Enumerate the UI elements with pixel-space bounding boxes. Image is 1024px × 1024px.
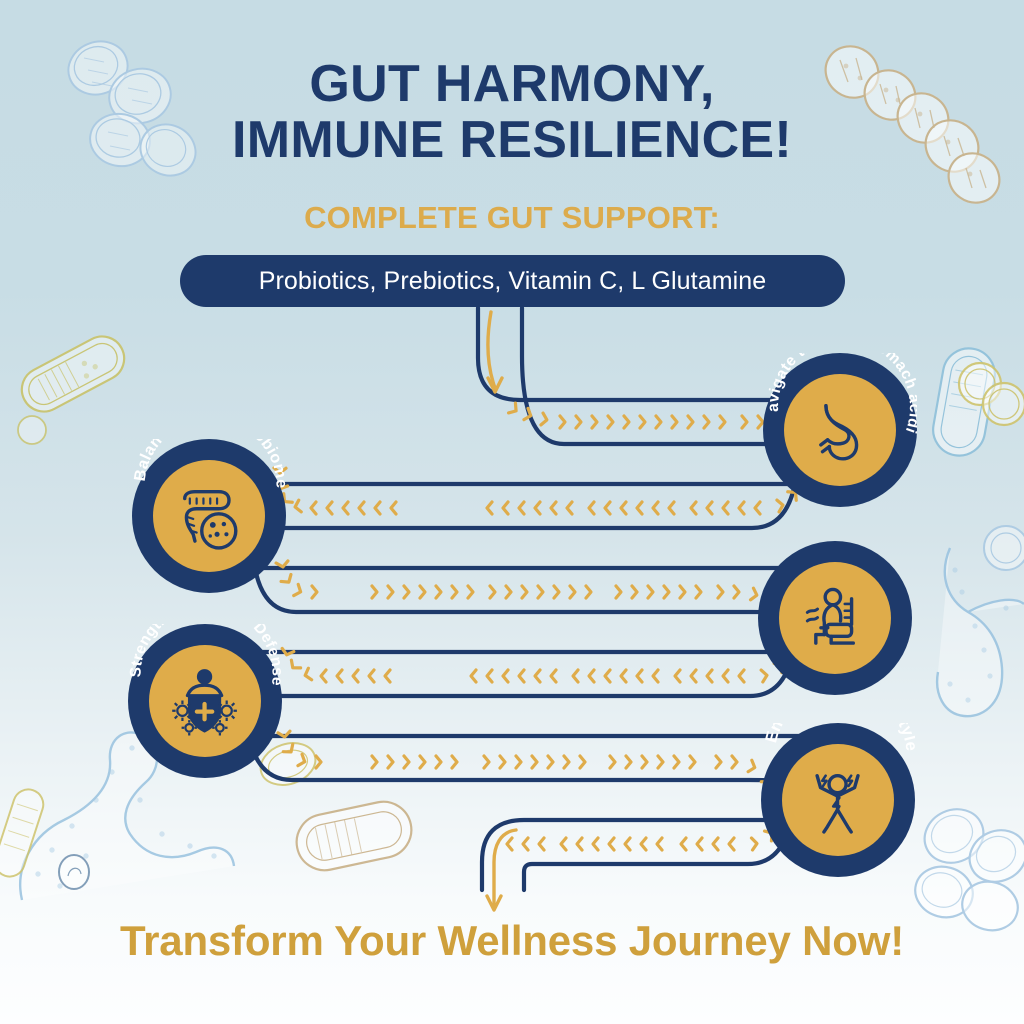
ingredients-banner: Probiotics, Prebiotics, Vitamin C, L Glu…	[180, 255, 845, 307]
subheading: COMPLETE GUT SUPPORT:	[0, 200, 1024, 236]
chevrons-row-3	[276, 561, 788, 643]
infographic-poster: GUT HARMONY, IMMUNE RESILIENCE! COMPLETE…	[0, 0, 1024, 1024]
journey-node-energize-your-lifestyle[interactable]: Energize Your Lifestyle	[761, 723, 915, 877]
call-to-action: Transform Your Wellness Journey Now!	[0, 917, 1024, 965]
journey-node-strengthen-immune-defense[interactable]: Strengthen Immune Defense	[128, 624, 282, 778]
intestine-bacteria-icon	[166, 473, 251, 558]
page-title-line-2: IMMUNE RESILIENCE!	[0, 114, 1024, 166]
energetic-person-icon	[795, 757, 880, 842]
entry-arrow-down-icon	[488, 312, 502, 392]
svg-text:Energize Your Lifestyle: Energize Your Lifestyle	[762, 723, 915, 752]
chevrons-row-4	[281, 644, 793, 682]
chevrons-row-2	[274, 468, 807, 514]
toilet-person-icon	[792, 575, 877, 660]
journey-node-stay-regular[interactable]: Stay Regular	[758, 541, 912, 695]
page-title-line-1: GUT HARMONY,	[0, 58, 1024, 110]
journey-node-navigate-stomach-acidity[interactable]: Navigate through stomach acidity	[763, 353, 917, 507]
chevrons-row-5	[278, 731, 783, 802]
shield-person-icon	[162, 658, 247, 743]
node-label-text: Energize Your Lifestyle	[762, 723, 915, 752]
stomach-icon	[797, 387, 882, 472]
journey-node-balance-your-microbiome[interactable]: Balance Your Microbiome	[132, 439, 286, 593]
exit-arrow-down-icon	[487, 830, 516, 910]
ingredients-list: Probiotics, Prebiotics, Vitamin C, L Glu…	[259, 267, 767, 296]
